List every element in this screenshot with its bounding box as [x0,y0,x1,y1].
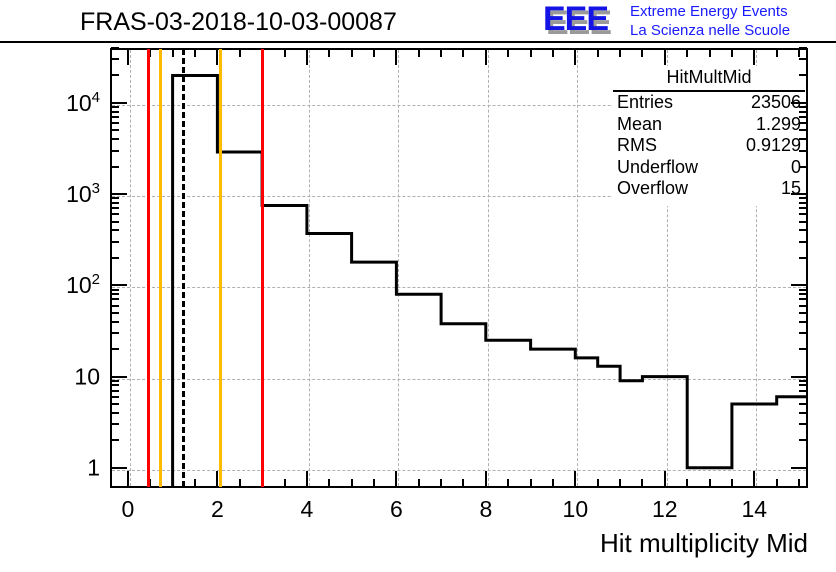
red-line-left [147,49,150,487]
red-line-right [261,49,264,487]
eee-logo-mark: EEE [543,2,608,36]
histogram-step-line [173,76,808,488]
histogram-outline [0,0,836,572]
root-canvas: FRAS-03-2018-10-03-00087 EEE EEE Extreme… [0,0,836,572]
dashed-line-mean [182,49,185,487]
orange-line-right [219,49,222,487]
orange-line-left [159,49,162,487]
